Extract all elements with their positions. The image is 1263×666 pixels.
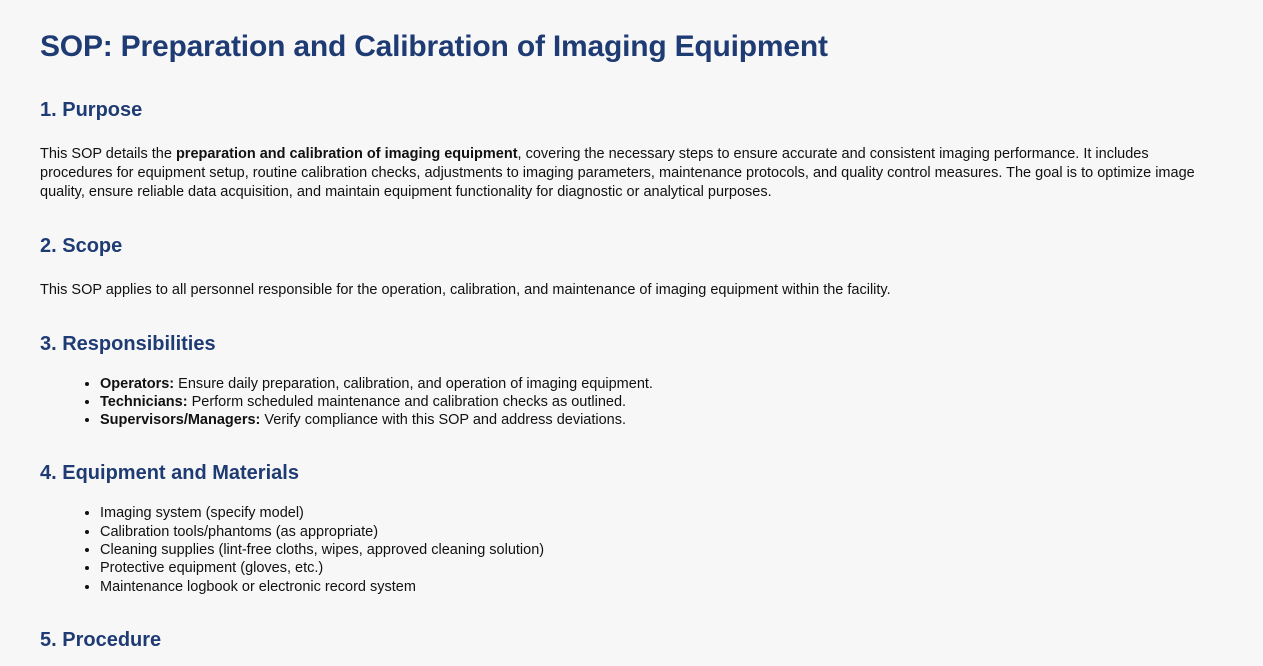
- list-item-label: Supervisors/Managers:: [100, 412, 260, 428]
- section-heading-procedure: 5. Procedure: [40, 627, 1223, 653]
- list-item: Operators: Ensure daily preparation, cal…: [100, 375, 1223, 393]
- list-item-label: Technicians:: [100, 394, 188, 410]
- section-heading-scope: 2. Scope: [40, 233, 1223, 259]
- list-item: Imaging system (specify model): [100, 504, 1223, 522]
- purpose-paragraph: This SOP details the preparation and cal…: [40, 145, 1205, 202]
- section-heading-responsibilities: 3. Responsibilities: [40, 331, 1223, 357]
- list-item-text: Ensure daily preparation, calibration, a…: [174, 376, 653, 392]
- page-title: SOP: Preparation and Calibration of Imag…: [40, 28, 1223, 66]
- section-heading-equipment: 4. Equipment and Materials: [40, 460, 1223, 486]
- scope-paragraph: This SOP applies to all personnel respon…: [40, 281, 1205, 300]
- purpose-paragraph-emphasis: preparation and calibration of imaging e…: [176, 146, 518, 162]
- list-item: Calibration tools/phantoms (as appropria…: [100, 523, 1223, 541]
- equipment-list: Imaging system (specify model) Calibrati…: [40, 504, 1223, 595]
- list-item: Cleaning supplies (lint-free cloths, wip…: [100, 541, 1223, 559]
- list-item: Supervisors/Managers: Verify compliance …: [100, 411, 1223, 429]
- list-item: Technicians: Perform scheduled maintenan…: [100, 393, 1223, 411]
- list-item: Protective equipment (gloves, etc.): [100, 559, 1223, 577]
- list-item-label: Operators:: [100, 376, 174, 392]
- section-heading-purpose: 1. Purpose: [40, 97, 1223, 123]
- list-item-text: Perform scheduled maintenance and calibr…: [188, 394, 626, 410]
- responsibilities-list: Operators: Ensure daily preparation, cal…: [40, 375, 1223, 430]
- purpose-paragraph-part1: This SOP details the: [40, 146, 176, 162]
- list-item: Maintenance logbook or electronic record…: [100, 578, 1223, 596]
- document-page: SOP: Preparation and Calibration of Imag…: [0, 0, 1263, 653]
- list-item-text: Verify compliance with this SOP and addr…: [260, 412, 626, 428]
